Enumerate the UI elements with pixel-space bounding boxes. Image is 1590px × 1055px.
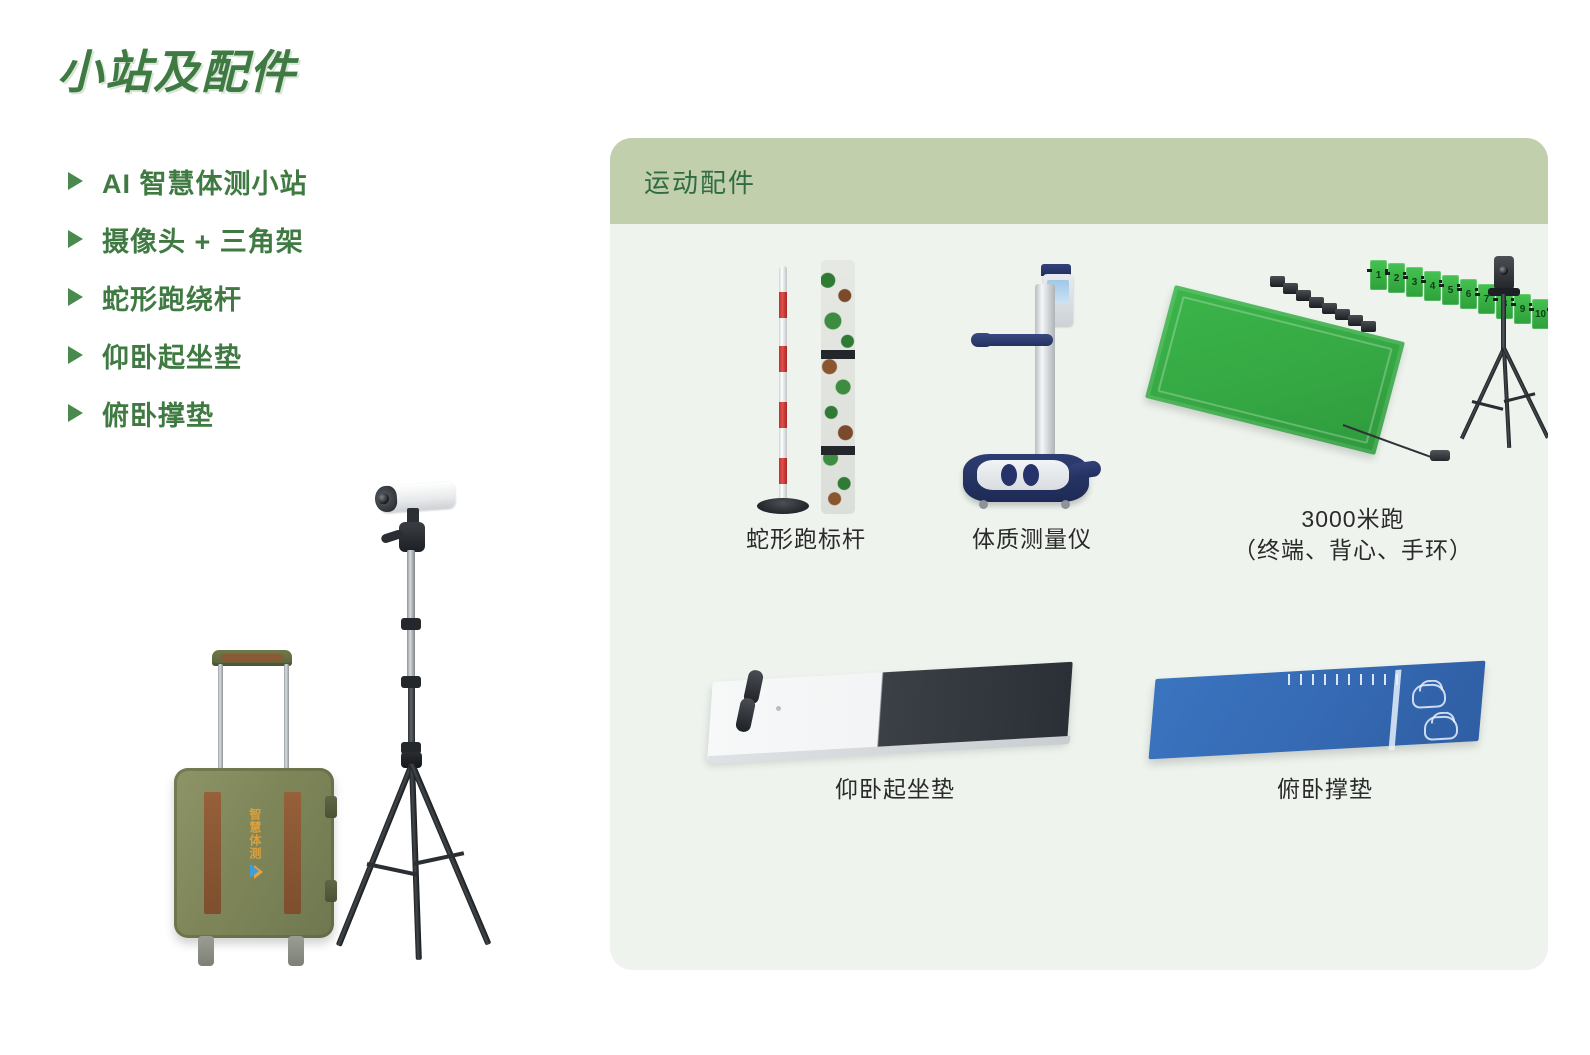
product-3000m-kit: 1 2 3 4 5 6 7 8 9 10 xyxy=(1158,254,1548,566)
camera-lens-icon xyxy=(374,485,398,512)
case-logo: 智慧体测 xyxy=(236,808,272,886)
hand-outline-icon xyxy=(1424,715,1458,741)
case-handle-grip xyxy=(212,650,292,666)
mat-cable-connector xyxy=(1430,450,1450,461)
tripod-lock xyxy=(401,676,421,688)
case-handle-rod-right xyxy=(284,664,289,774)
panel-header-title: 运动配件 xyxy=(644,163,756,200)
list-item: 蛇形跑绕杆 xyxy=(68,268,488,326)
tripod-lock xyxy=(401,618,421,630)
bullet-label: AI 智慧体测小站 xyxy=(102,162,308,201)
product-row-bottom: 仰卧起坐垫 xyxy=(610,654,1548,805)
triangle-right-icon xyxy=(68,288,83,306)
product-pushup-mat: 俯卧撑垫 xyxy=(1110,654,1540,805)
situp-mat-illustration xyxy=(700,654,1090,774)
pole-band xyxy=(779,458,787,484)
case-logo-text: 智慧体测 xyxy=(247,808,261,860)
product-caption: 体质测量仪 xyxy=(934,524,1130,555)
list-item: 摄像头 + 三角架 xyxy=(68,210,488,268)
bullet-label: 蛇形跑绕杆 xyxy=(102,278,242,317)
ruler-tick xyxy=(1372,674,1374,685)
product-situp-mat: 仰卧起坐垫 xyxy=(680,654,1110,805)
tripod-column xyxy=(407,550,415,680)
page-title: 小站及配件 xyxy=(57,36,297,102)
bag-strap xyxy=(821,350,855,359)
product-caption: 仰卧起坐垫 xyxy=(680,774,1110,805)
triangle-right-icon xyxy=(68,404,83,422)
camera-on-tripod xyxy=(325,470,545,970)
kit-camera-icon xyxy=(1494,256,1514,290)
pushup-mat-illustration xyxy=(1140,654,1510,774)
case-wheel-left xyxy=(198,936,214,966)
triangle-right-icon xyxy=(68,230,83,248)
list-item: AI 智慧体测小站 xyxy=(68,152,488,210)
analyzer-footprint-left xyxy=(1001,464,1017,486)
analyzer-column xyxy=(1035,284,1055,464)
product-row-top: 蛇形跑标杆 体质测量仪 xyxy=(610,254,1548,566)
kit-camera-tripod xyxy=(1458,254,1548,454)
situp-sensor-dot xyxy=(776,706,781,711)
analyzer-wheel xyxy=(979,500,988,509)
triangle-right-icon xyxy=(68,172,83,190)
hand-outline-icon xyxy=(1412,683,1446,709)
pole-illustration xyxy=(741,254,871,524)
analyzer-hand-bar xyxy=(981,334,1053,346)
pole-base xyxy=(757,498,809,514)
vest-marker: 1 xyxy=(1370,260,1387,290)
ruler-tick xyxy=(1384,674,1386,685)
product-analyzer: 体质测量仪 xyxy=(934,254,1130,566)
analyzer-illustration xyxy=(957,254,1107,524)
bullet-label: 仰卧起坐垫 xyxy=(102,336,242,375)
pole-band xyxy=(779,402,787,428)
ruler-tick xyxy=(1288,674,1290,685)
analyzer-side-handle xyxy=(1068,460,1102,480)
panel-body: 蛇形跑标杆 体质测量仪 xyxy=(610,224,1548,970)
tripod-brace xyxy=(367,862,419,877)
sports-accessories-panel: 运动配件 蛇形跑标杆 xyxy=(610,138,1548,970)
product-caption: 蛇形跑标杆 xyxy=(708,524,904,555)
triangle-right-icon xyxy=(68,346,83,364)
list-item: 仰卧起坐垫 xyxy=(68,326,488,384)
bullet-label: 俯卧撑垫 xyxy=(102,394,214,433)
ruler-tick xyxy=(1336,674,1338,685)
ruler-tick xyxy=(1360,674,1362,685)
case-strap-right xyxy=(284,792,301,914)
feature-bullet-list: AI 智慧体测小站 摄像头 + 三角架 蛇形跑绕杆 仰卧起坐垫 俯卧撑垫 xyxy=(68,152,488,442)
tripod-head xyxy=(399,522,425,552)
pole-band xyxy=(779,292,787,318)
product-pole: 蛇形跑标杆 xyxy=(708,254,904,566)
case-wheel-right xyxy=(288,936,304,966)
case-shell: 智慧体测 xyxy=(174,768,334,938)
bullet-label: 摄像头 + 三角架 xyxy=(102,220,304,259)
ruler-tick xyxy=(1324,674,1326,685)
panel-header: 运动配件 xyxy=(610,138,1548,224)
tripod-leg xyxy=(336,763,415,947)
analyzer-footprint-right xyxy=(1023,464,1039,486)
camouflage-carry-bag xyxy=(821,260,855,514)
product-caption: 3000米跑 （终端、背心、手环） xyxy=(1158,504,1548,566)
left-product-illustration: 智慧体测 xyxy=(140,460,560,970)
case-strap-left xyxy=(204,792,221,914)
case-handle-rod-left xyxy=(218,664,223,774)
kit-illustration: 1 2 3 4 5 6 7 8 9 10 xyxy=(1158,254,1548,504)
kit-tripod-column xyxy=(1501,294,1506,352)
wristband-group xyxy=(1270,276,1380,330)
analyzer-wheel xyxy=(1061,500,1070,509)
pushup-ruler-markings xyxy=(1288,674,1404,688)
bag-strap xyxy=(821,446,855,455)
list-item: 俯卧撑垫 xyxy=(68,384,488,442)
ruler-tick xyxy=(1348,674,1350,685)
case-logo-mark-icon xyxy=(250,864,259,878)
ruler-tick xyxy=(1300,674,1302,685)
product-caption: 俯卧撑垫 xyxy=(1110,774,1540,805)
pole-band xyxy=(779,346,787,372)
kit-tripod-leg xyxy=(1460,347,1506,439)
ruler-tick xyxy=(1312,674,1314,685)
